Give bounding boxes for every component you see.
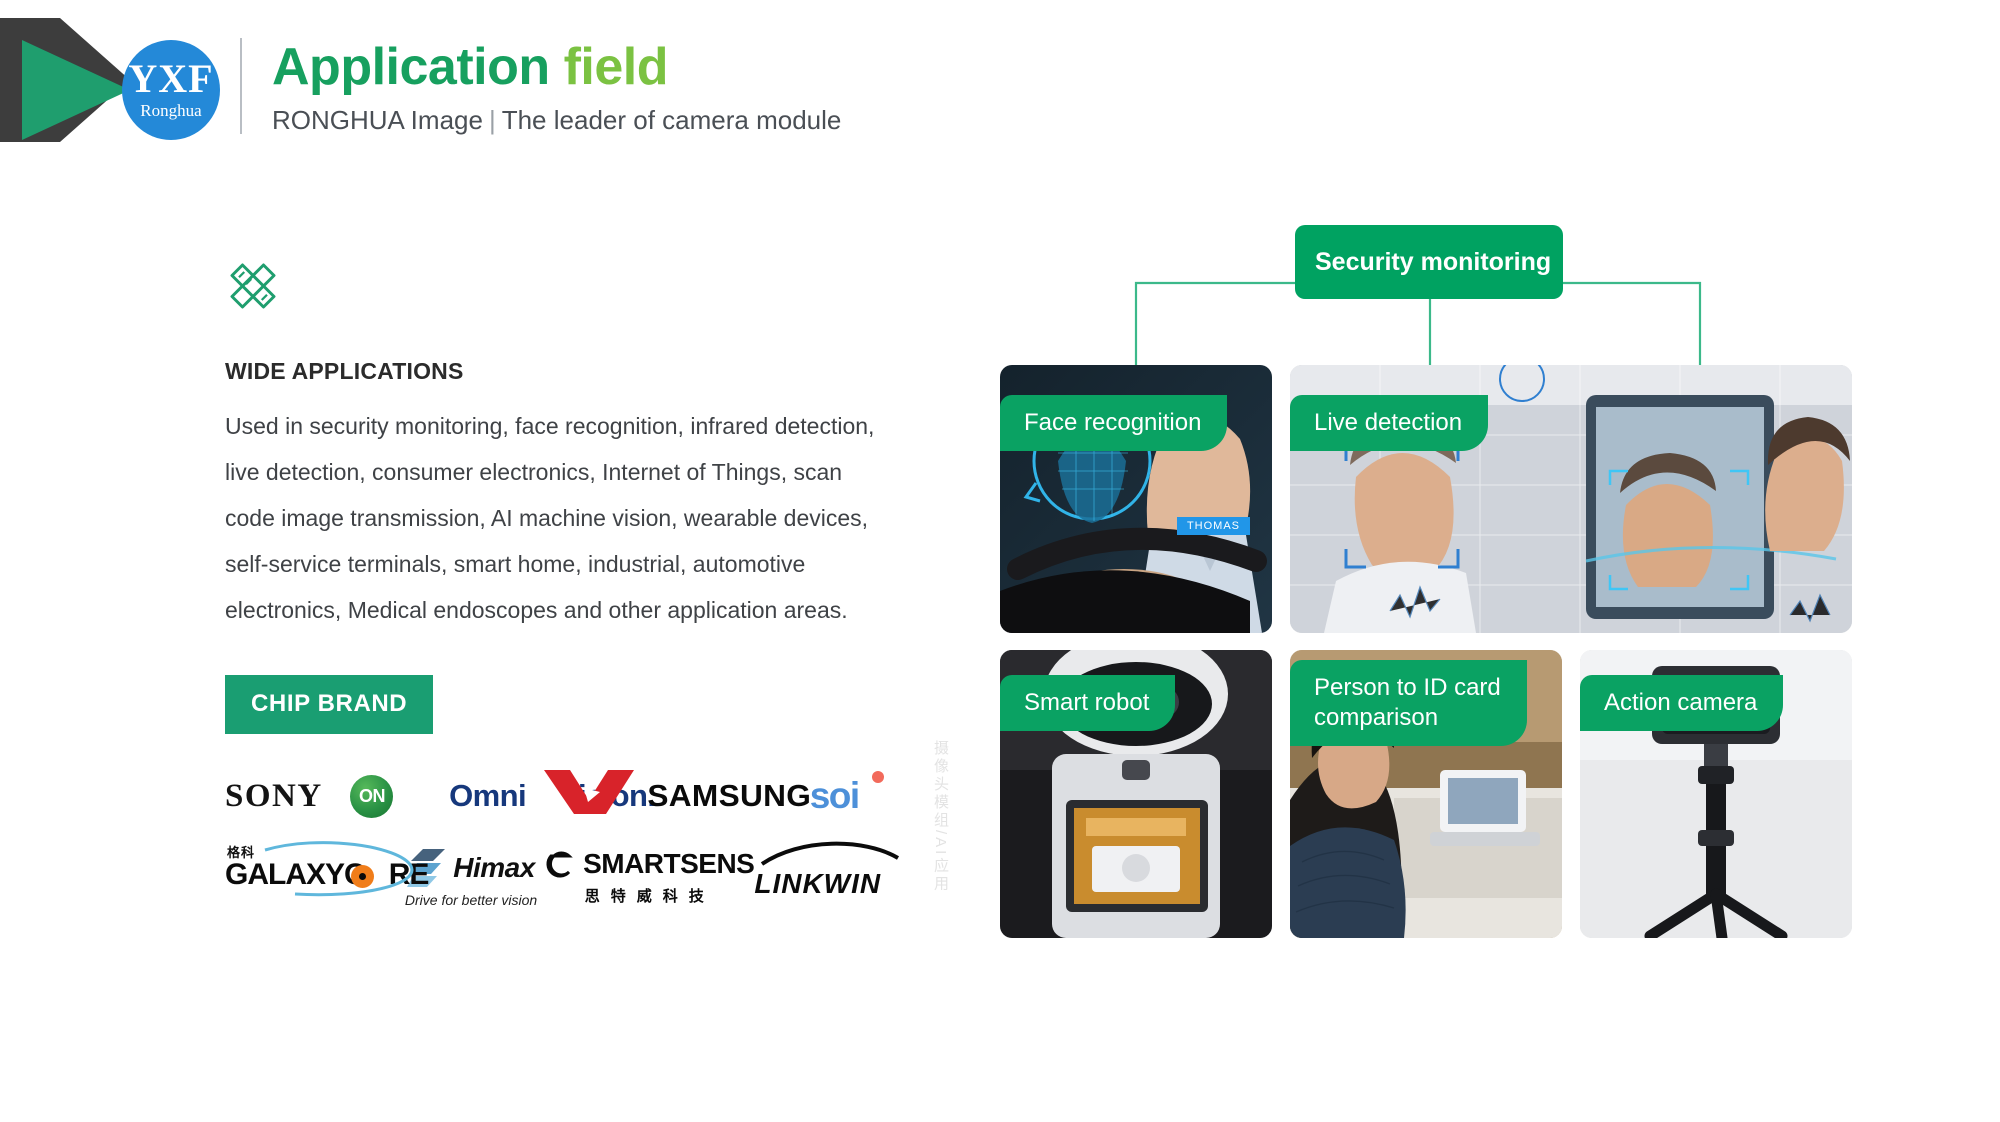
smartsens-s-icon [545, 849, 575, 879]
card-person-id-comparison[interactable]: Person to ID card comparison [1290, 650, 1562, 938]
face-recognition-name-tag: THOMAS [1177, 517, 1250, 535]
page-title-part1: Application [272, 38, 550, 96]
subtitle-brand: RONGHUA Image [272, 105, 483, 135]
brand-logo-soi: soi [810, 775, 885, 817]
brand-logo-grid: SONY ON Omniision. SAMSUNG soi [225, 764, 885, 914]
card-face-recognition[interactable]: THOMAS Face recognition [1000, 365, 1272, 633]
logo-initials: YXF [128, 59, 213, 99]
omnivision-v-icon [544, 766, 634, 818]
card-label-smart-robot: Smart robot [1000, 675, 1175, 731]
brand-logo-row-1: SONY ON Omniision. SAMSUNG soi [225, 764, 885, 828]
onsemi-mark: ON [350, 775, 393, 818]
page-title: Application field [272, 40, 841, 95]
galaxycore-chinese: 格科 [227, 842, 255, 861]
galaxycore-eye-icon [351, 865, 374, 888]
page-subtitle: RONGHUA Image|The leader of camera modul… [272, 105, 841, 136]
card-label-face-recognition: Face recognition [1000, 395, 1227, 451]
smartsens-chinese: 思特威科技 [585, 885, 715, 906]
header-title-block: Application field RONGHUA Image|The lead… [272, 40, 841, 136]
omnivision-word-a: Omni [449, 778, 526, 814]
card-label-action-camera: Action camera [1580, 675, 1783, 731]
chip-brand-badge: CHIP BRAND [225, 675, 433, 734]
subtitle-divider: | [483, 105, 502, 135]
samsung-wordmark: SAMSUNG [648, 778, 812, 814]
card-label-live-detection: Live detection [1290, 395, 1488, 451]
slide-root: YXF Ronghua Application field RONGHUA Im… [0, 0, 2000, 1122]
logo-name: Ronghua [140, 102, 201, 121]
smartsens-wordmark: SMARTSENS [583, 848, 754, 880]
application-diagram: Security monitoring [1000, 225, 1880, 945]
brand-logo-onsemi: ON [350, 775, 449, 818]
soi-wordmark: soi [810, 775, 859, 817]
left-content-column: WIDE APPLICATIONS Used in security monit… [225, 258, 905, 914]
diagram-root-label: Security monitoring [1315, 248, 1551, 277]
page-title-part2: field [564, 38, 668, 96]
soi-dot-icon [872, 771, 884, 783]
linkwin-wordmark: LINKWIN [754, 868, 881, 899]
brand-logo-samsung: SAMSUNG [649, 778, 810, 814]
card-action-camera[interactable]: Action camera [1580, 650, 1852, 938]
diagram-root-node[interactable]: Security monitoring [1295, 225, 1563, 299]
brand-logo-linkwin: LINKWIN [754, 854, 885, 900]
linkwin-arc-icon [760, 840, 900, 866]
sony-wordmark: SONY [225, 778, 323, 815]
brand-logo-smartsens: SMARTSENS 思特威科技 [545, 848, 754, 906]
himax-wordmark: Himax [453, 852, 535, 884]
card-label-person-id-comparison: Person to ID card comparison [1290, 660, 1527, 746]
brand-logo-row-2: 格科 GALAXYCRE Himax Dr [225, 840, 885, 914]
ruler-pencil-icon [225, 258, 281, 314]
brand-logo-omnivision: Omniision. [449, 778, 649, 814]
watermark-text: 摄像头模组/AI应用 [930, 740, 951, 893]
brand-logo-galaxycore: 格科 GALAXYCRE [225, 844, 397, 910]
brand-logo-sony: SONY [225, 778, 350, 815]
card-live-detection[interactable]: Live detection [1290, 365, 1852, 633]
card-smart-robot[interactable]: Smart robot [1000, 650, 1272, 938]
slide-header: YXF Ronghua Application field RONGHUA Im… [0, 0, 2000, 175]
subtitle-tagline: The leader of camera module [502, 105, 842, 135]
header-divider [240, 38, 242, 134]
smartsens-top: SMARTSENS [545, 848, 754, 880]
section-body-text: Used in security monitoring, face recogn… [225, 403, 890, 633]
section-heading: WIDE APPLICATIONS [225, 358, 905, 385]
company-logo-badge: YXF Ronghua [122, 40, 220, 140]
